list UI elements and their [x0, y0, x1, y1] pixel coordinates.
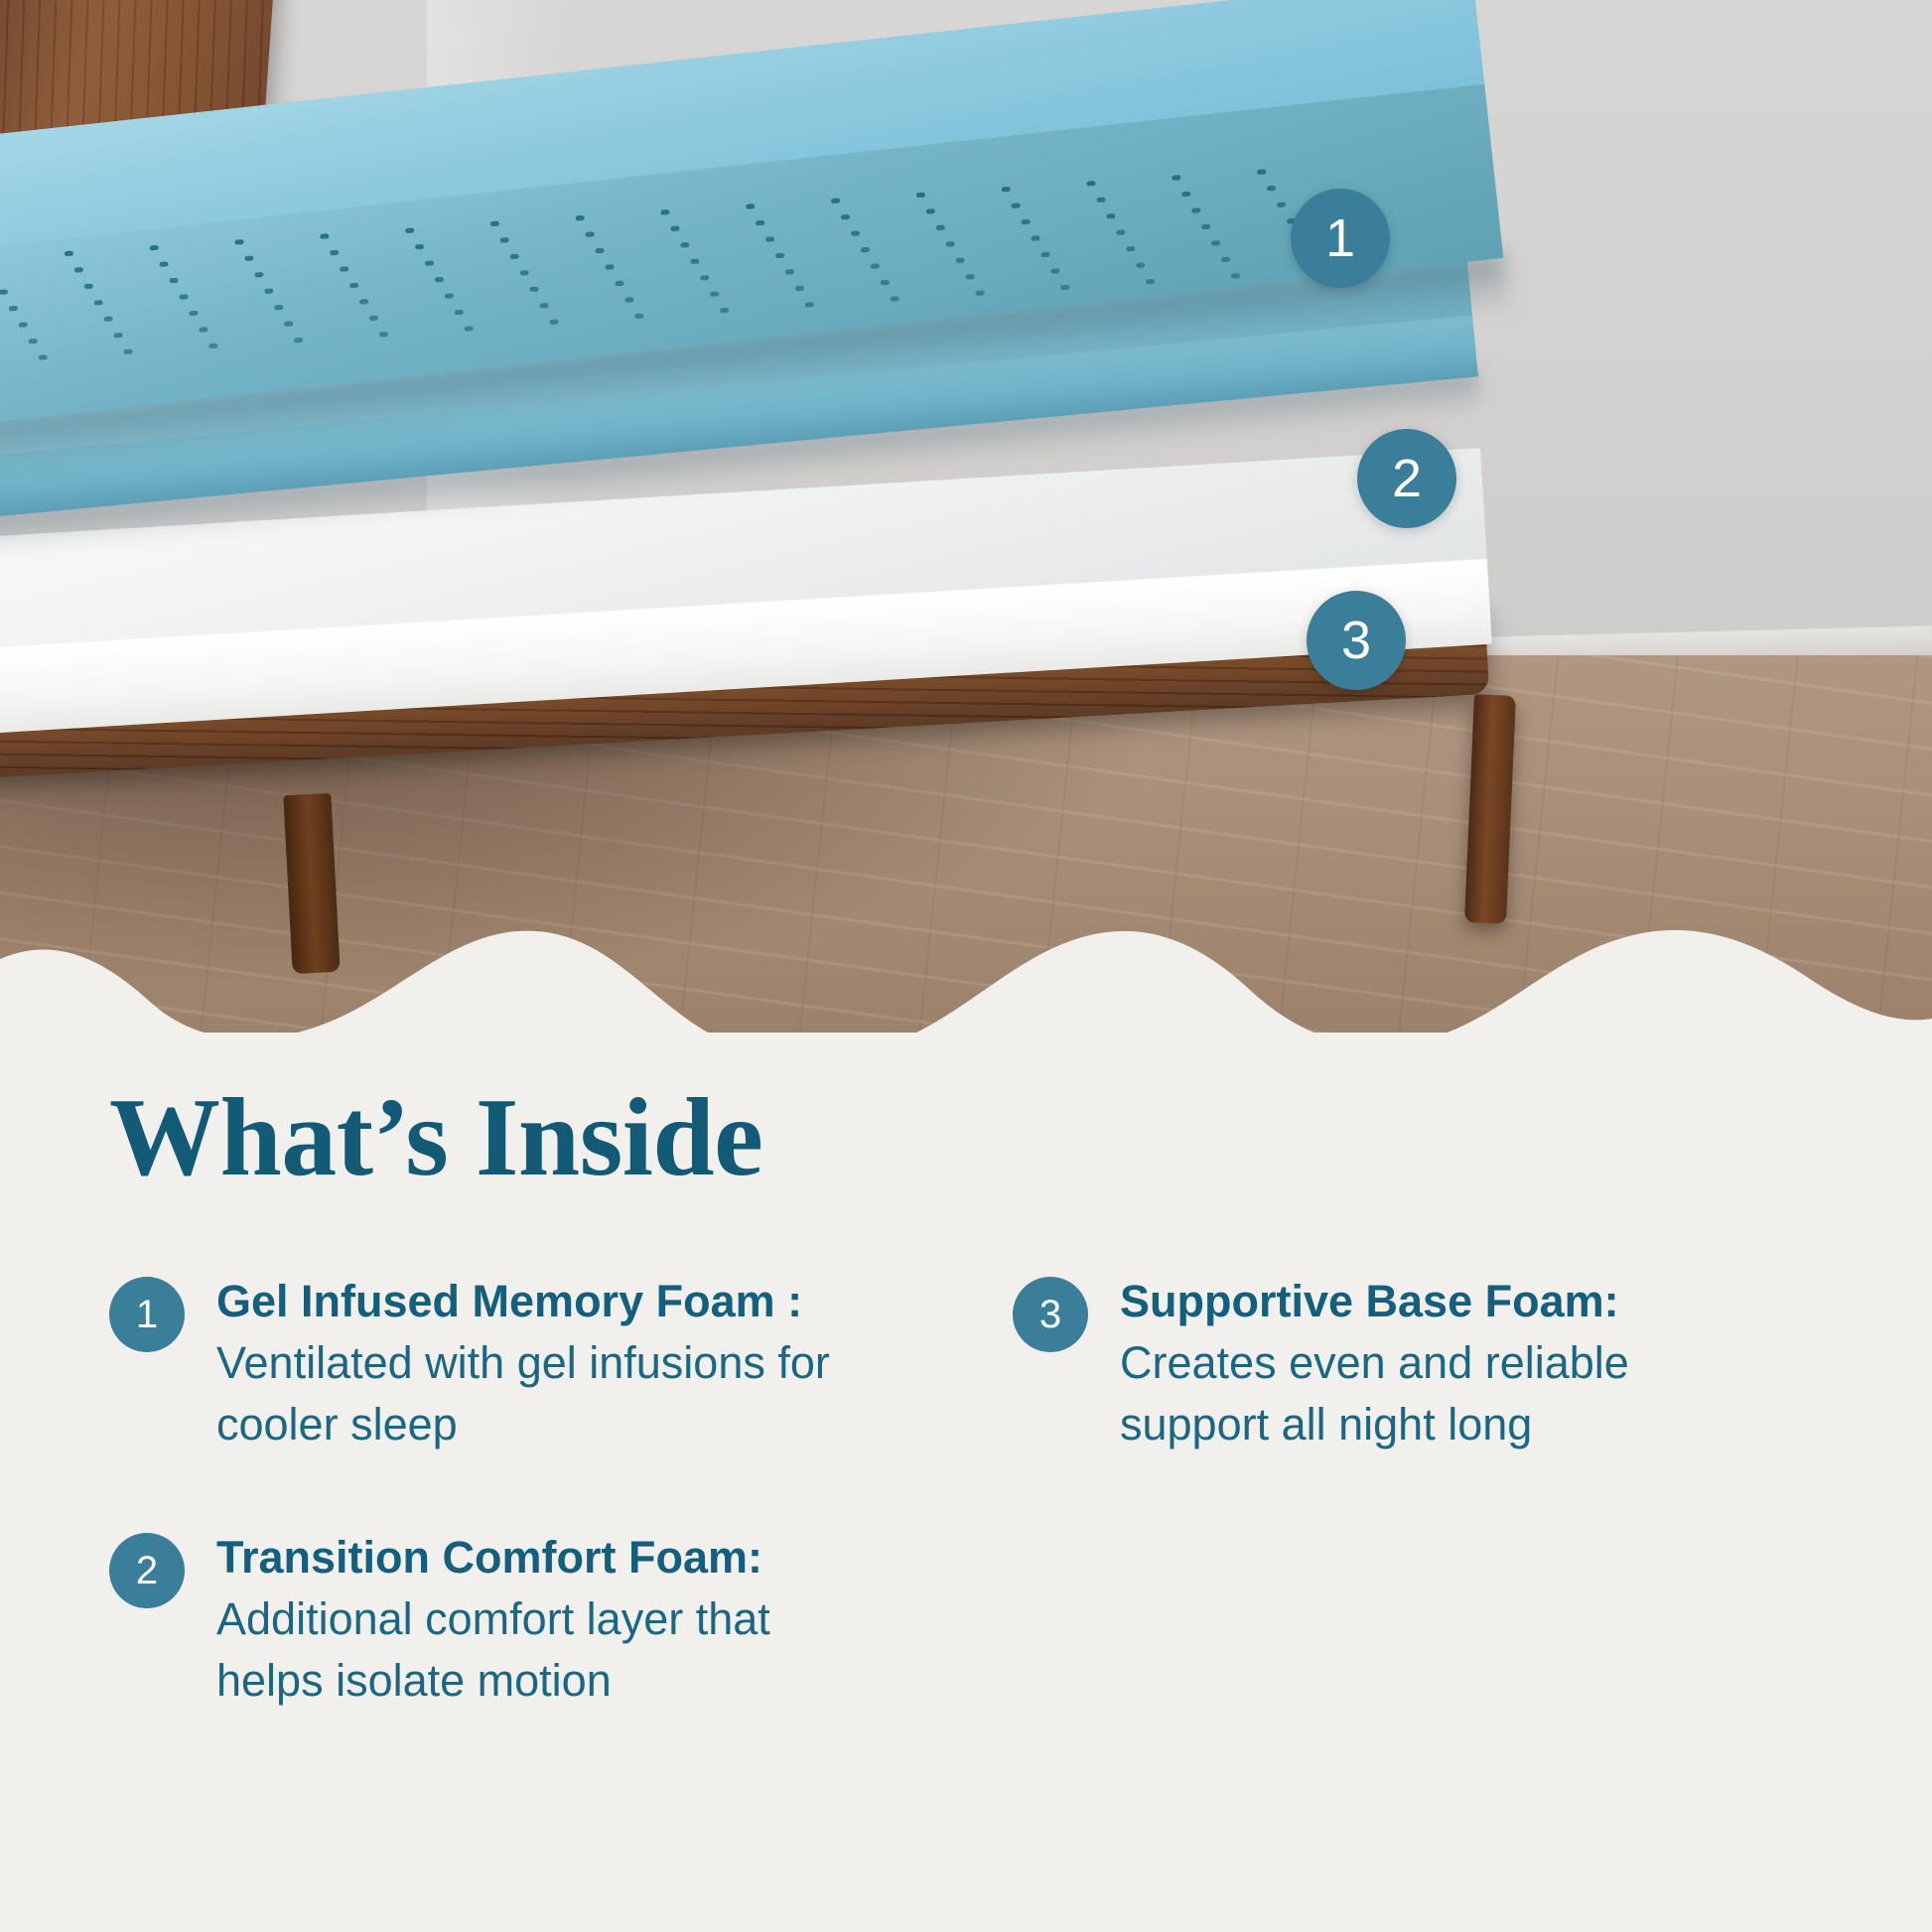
vent-hole [74, 267, 83, 272]
vent-hole [775, 253, 784, 258]
vent-hole [1267, 185, 1276, 190]
vent-hole [84, 283, 93, 288]
vent-hole [861, 247, 870, 252]
product-feature-infographic: 1 2 3 What’s Inside 1 Gel Infused Memory… [0, 0, 1932, 1932]
vent-hole [1040, 252, 1049, 257]
vent-hole [586, 232, 595, 237]
vent-hole [1086, 181, 1095, 186]
vent-hole [956, 257, 965, 262]
vent-hole [113, 333, 122, 338]
vent-hole [103, 316, 112, 321]
vent-hole [199, 327, 207, 332]
features-list: 1 Gel Infused Memory Foam : Ventilated w… [109, 1271, 1857, 1784]
vent-hole [1002, 187, 1011, 192]
feature-badge-3: 3 [1013, 1277, 1088, 1352]
vent-hole [710, 292, 719, 297]
feature-term-1: Gel Infused Memory Foam : [216, 1276, 802, 1326]
vent-hole [284, 321, 293, 326]
vent-hole [1012, 203, 1021, 207]
vent-hole [465, 326, 474, 331]
vent-hole [320, 233, 329, 238]
vent-hole [490, 221, 499, 226]
vent-hole [254, 272, 263, 277]
vent-hole [634, 314, 643, 319]
vent-hole [1221, 256, 1230, 261]
vent-hole [891, 296, 899, 301]
vent-hole [1191, 207, 1200, 212]
page-title: What’s Inside [109, 1082, 762, 1193]
vent-hole [670, 226, 679, 231]
vent-hole [274, 305, 283, 310]
vent-hole [19, 322, 28, 327]
vent-hole [841, 214, 850, 219]
vent-hole [1126, 246, 1135, 251]
vent-hole [576, 215, 585, 220]
vent-hole [294, 338, 303, 343]
vent-hole [264, 288, 273, 293]
vent-hole [916, 193, 925, 198]
vent-hole [690, 259, 699, 264]
photo-callout-3[interactable]: 3 [1307, 591, 1406, 690]
mattress-layers-photo: 1 2 3 [0, 0, 1932, 1033]
vent-hole [1146, 279, 1155, 284]
feature-item-2: 2 Transition Comfort Foam: Additional co… [109, 1527, 983, 1712]
vent-hole [1116, 229, 1125, 234]
vent-hole [123, 348, 132, 353]
vent-hole [756, 220, 764, 225]
feature-description-2: Additional comfort layer that helps isol… [216, 1593, 770, 1706]
vent-hole [595, 248, 604, 253]
wave-divider [0, 874, 1932, 1033]
vent-hole [179, 294, 188, 299]
vent-hole [455, 309, 464, 314]
feature-item-3: 3 Supportive Base Foam: Creates even and… [1013, 1271, 1857, 1455]
vent-hole [1172, 175, 1180, 180]
vent-hole [9, 306, 18, 311]
vent-hole [1021, 219, 1030, 224]
vent-hole [539, 303, 548, 308]
vent-hole [415, 243, 424, 248]
vent-hole [510, 254, 519, 259]
vent-hole [680, 242, 689, 247]
vent-hole [1231, 273, 1240, 278]
vent-hole [349, 282, 358, 287]
vent-hole [340, 266, 348, 271]
vent-hole [29, 339, 38, 344]
vent-hole [720, 308, 729, 313]
vent-hole [1050, 268, 1059, 273]
vent-hole [851, 230, 860, 235]
vent-hole [425, 260, 434, 265]
feature-badge-2: 2 [109, 1533, 185, 1608]
vent-hole [330, 249, 339, 254]
vent-hole [975, 290, 984, 295]
vent-hole [530, 287, 539, 292]
feature-term-3: Supportive Base Foam: [1120, 1276, 1619, 1326]
feature-item-1: 1 Gel Infused Memory Foam : Ventilated w… [109, 1271, 983, 1455]
vent-hole [871, 263, 880, 268]
vent-hole [605, 265, 614, 270]
vent-hole [765, 236, 774, 241]
vent-hole [785, 269, 794, 274]
vent-hole [208, 343, 217, 347]
vent-hole [379, 332, 388, 337]
vent-hole [244, 255, 253, 260]
vent-hole [624, 298, 633, 303]
vent-hole [520, 270, 529, 275]
vent-hole [405, 227, 414, 232]
vent-hole [435, 276, 444, 281]
vent-hole [0, 289, 8, 294]
vent-hole [805, 302, 814, 307]
vent-hole [795, 286, 804, 291]
vent-hole [549, 320, 558, 325]
vent-hole [881, 280, 890, 285]
vent-hole [500, 238, 509, 243]
vent-hole [946, 241, 955, 246]
vent-hole [359, 299, 368, 304]
vent-hole [926, 208, 935, 213]
feature-badge-1: 1 [109, 1277, 185, 1352]
photo-callout-2[interactable]: 2 [1357, 429, 1456, 528]
vent-hole [65, 251, 73, 256]
vent-hole [1181, 191, 1190, 196]
vent-hole [1211, 240, 1220, 245]
feature-term-2: Transition Comfort Foam: [216, 1532, 762, 1583]
vent-hole [189, 311, 198, 316]
vent-hole [1096, 197, 1105, 202]
vent-hole [746, 204, 755, 208]
vent-hole [1277, 202, 1286, 207]
vent-hole [1031, 235, 1039, 240]
vent-hole [445, 293, 454, 298]
feature-description-1: Ventilated with gel infusions for cooler… [216, 1337, 830, 1449]
vent-hole [369, 315, 378, 320]
vent-hole [1136, 262, 1145, 267]
photo-callout-1[interactable]: 1 [1291, 189, 1390, 288]
feature-text-1: Gel Infused Memory Foam : Ventilated wit… [216, 1271, 852, 1455]
vent-hole [39, 354, 48, 359]
features-column-right: 3 Supportive Base Foam: Creates even and… [983, 1271, 1857, 1784]
vent-hole [1106, 213, 1115, 218]
vent-hole [700, 275, 709, 280]
vent-hole [234, 239, 243, 244]
feature-description-3: Creates even and reliable support all ni… [1120, 1337, 1629, 1449]
vent-hole [965, 274, 974, 279]
vent-hole [150, 245, 159, 250]
vent-hole [169, 278, 178, 283]
feature-text-2: Transition Comfort Foam: Additional comf… [216, 1527, 852, 1712]
vent-hole [936, 225, 945, 230]
whats-inside-section: What’s Inside 1 Gel Infused Memory Foam … [0, 1033, 1932, 1932]
vent-hole [1060, 284, 1069, 289]
features-column-left: 1 Gel Infused Memory Foam : Ventilated w… [109, 1271, 983, 1784]
vent-hole [1201, 223, 1210, 228]
vent-hole [94, 300, 103, 305]
vent-hole [615, 281, 623, 286]
vent-hole [159, 261, 168, 266]
vent-hole [831, 198, 840, 203]
vent-hole [1257, 169, 1266, 174]
vent-hole [660, 209, 669, 214]
feature-text-3: Supportive Base Foam: Creates even and r… [1120, 1271, 1755, 1455]
